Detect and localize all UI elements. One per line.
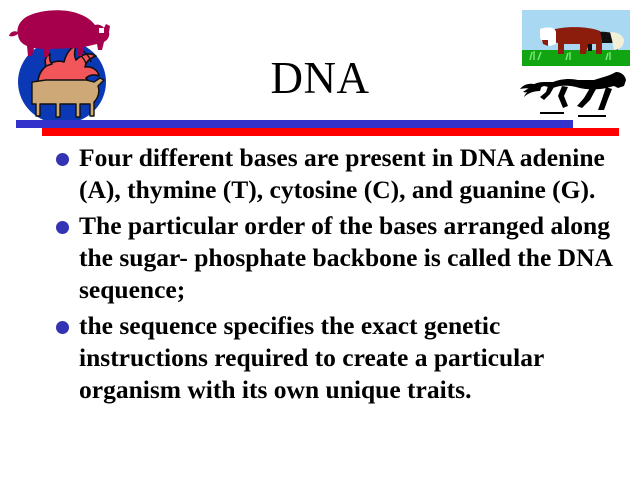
bullet-text-order: The particular order of the bases arrang… [79,210,632,306]
horse-tail-icon [520,84,542,97]
bullet-list: Four different bases are present in DNA … [52,142,632,410]
page-title: DNA [120,54,520,102]
pig-eye-icon [99,28,104,33]
slide-header: DNA [0,0,640,140]
bullet-dot-icon [56,153,69,166]
list-item: The particular order of the bases arrang… [52,210,632,306]
list-item: Four different bases are present in DNA … [52,142,632,206]
bullet-text-bases: Four different bases are present in DNA … [79,142,632,206]
bullet-text-instructions: the sequence specifies the exact genetic… [79,310,632,406]
divider-bar-red [42,128,619,136]
list-item: the sequence specifies the exact genetic… [52,310,632,406]
slide-canvas: DNA [0,0,640,480]
motion-lines [540,113,606,116]
galloping-horse-silhouette [520,66,632,122]
horse-legs-icon [540,86,612,110]
bullet-dot-icon [56,321,69,334]
farm-animals-emblem [6,4,118,128]
bullet-dot-icon [56,221,69,234]
divider-bar-blue [16,120,573,128]
cattle-pasture-photo [522,10,630,66]
